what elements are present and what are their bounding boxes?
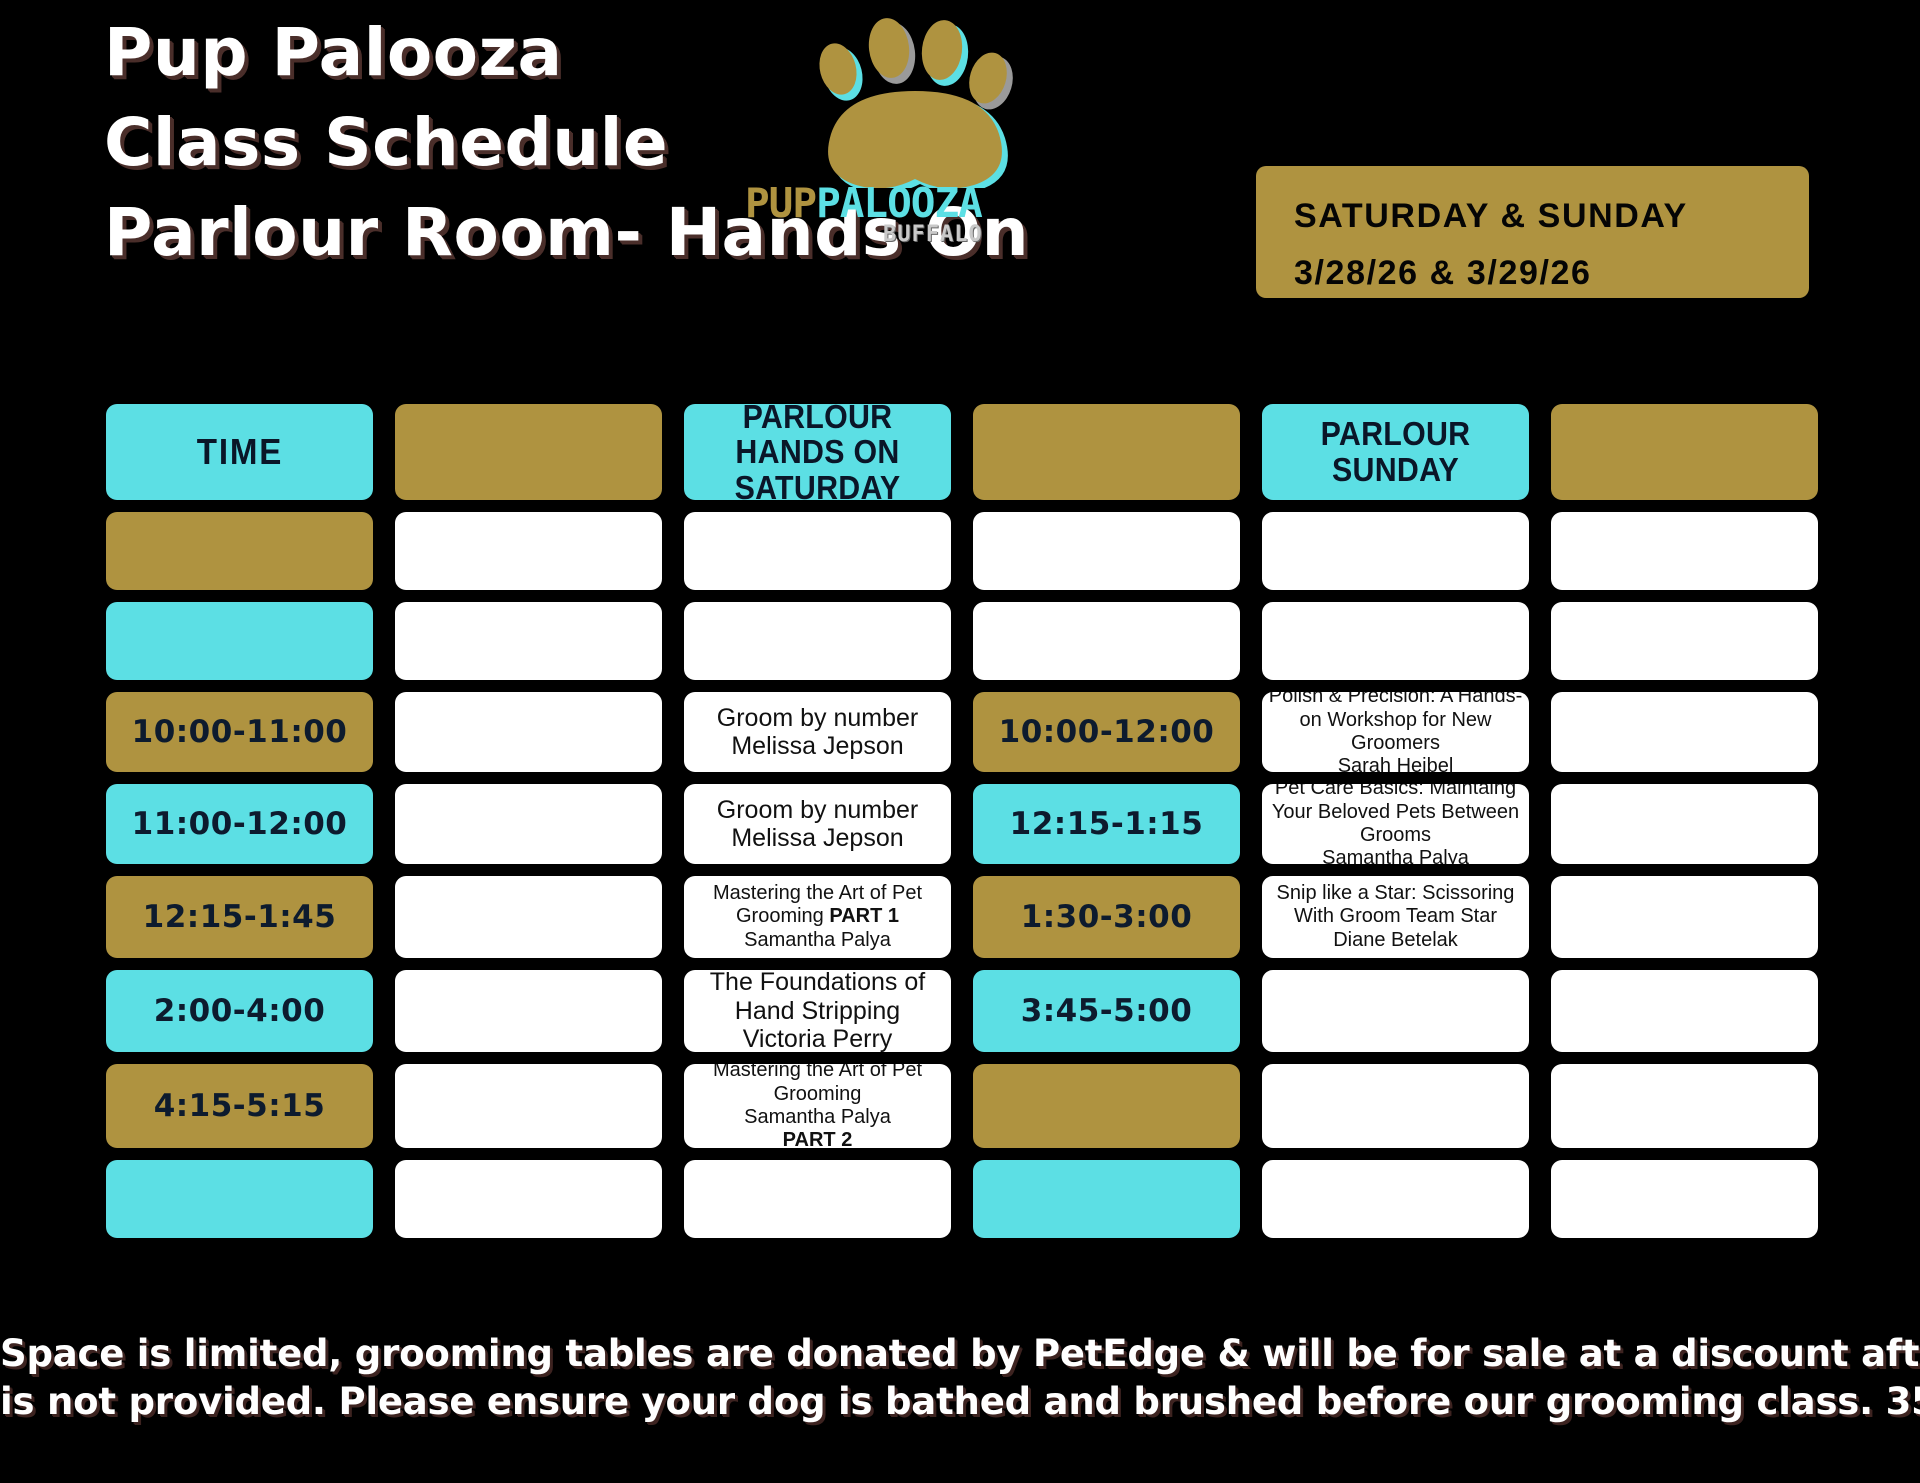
table-row — [684, 1160, 951, 1238]
poster-header: Pup Palooza Class Schedule Parlour Room-… — [0, 0, 1920, 390]
sunday-time-label: 3:45-5:00 — [1021, 993, 1193, 1029]
table-row — [106, 602, 373, 680]
saturday-time-slot: 10:00-11:00 — [106, 692, 373, 772]
session-title: Mastering the Art of Pet Grooming — [690, 1064, 945, 1106]
column-header-blank-2 — [395, 404, 662, 500]
footer-line-1: Space is limited, grooming tables are do… — [0, 1330, 1920, 1378]
session-presenter: Samantha Palya — [690, 1106, 945, 1129]
table-row — [684, 602, 951, 680]
table-row — [106, 512, 373, 590]
session-presenter: Melissa Jepson — [690, 824, 945, 853]
poster-root: Pup Palooza Class Schedule Parlour Room-… — [0, 0, 1920, 1483]
sunday-time-label: 1:30-3:00 — [1021, 899, 1193, 935]
session-presenter: Sarah Heibel — [1268, 755, 1523, 772]
footer-line-2: is not provided. Please ensure your dog … — [0, 1378, 1920, 1426]
table-cell-blank — [1262, 1064, 1529, 1148]
sunday-time-slot: 10:00-12:00 — [973, 692, 1240, 772]
session-presenter: Melissa Jepson — [690, 732, 945, 761]
sunday-session-cell: Pet Care Basics: Maintaing Your Beloved … — [1262, 784, 1529, 864]
table-row — [1262, 1160, 1529, 1238]
table-row — [106, 1160, 373, 1238]
sunday-session-content: Pet Care Basics: Maintaing Your Beloved … — [1268, 784, 1523, 864]
table-cell-blank — [1551, 692, 1818, 772]
session-title: Polish & Precision: A Hands-on Workshop … — [1268, 692, 1523, 755]
session-title: Snip like a Star: Scissoring With Groom … — [1268, 882, 1523, 929]
session-presenter: Victoria Perry — [690, 1025, 945, 1052]
saturday-session-cell: Groom by number Melissa Jepson — [684, 692, 951, 772]
table-cell-blank — [1551, 876, 1818, 958]
table-cell-blank — [1262, 970, 1529, 1052]
session-part: PART 1 — [829, 905, 899, 927]
schedule-table: TIME PARLOUR HANDS ON SATURDAY PARLOUR S… — [106, 404, 1820, 1238]
table-row — [1551, 1160, 1818, 1238]
table-cell-blank — [1551, 784, 1818, 864]
sunday-session-content: Polish & Precision: A Hands-on Workshop … — [1268, 692, 1523, 772]
column-header-parlour-sunday: PARLOUR SUNDAY — [1262, 404, 1529, 500]
table-row — [395, 602, 662, 680]
logo-word-palooza: PALOOZA — [816, 179, 982, 227]
table-row — [684, 512, 951, 590]
logo-wordmark: PUPPALOOZA — [745, 183, 982, 224]
table-row — [395, 1160, 662, 1238]
session-title: Pet Care Basics: Maintaing Your Beloved … — [1268, 784, 1523, 847]
sunday-time-slot: 1:30-3:00 — [973, 876, 1240, 958]
sunday-time-slot: 12:15-1:15 — [973, 784, 1240, 864]
saturday-time-slot: 11:00-12:00 — [106, 784, 373, 864]
session-title: Groom by number — [690, 796, 945, 825]
table-cell-blank — [1551, 1064, 1818, 1148]
saturday-time-label: 12:15-1:45 — [143, 899, 337, 935]
session-part: PART 2 — [783, 1129, 853, 1148]
table-cell-blank — [395, 1064, 662, 1148]
saturday-session-content: Mastering the Art of Pet Grooming Samant… — [690, 1064, 945, 1148]
saturday-session-content: Groom by number Melissa Jepson — [690, 796, 945, 853]
table-row — [973, 602, 1240, 680]
saturday-session-content: The Foundations of Hand Stripping Victor… — [690, 970, 945, 1052]
logo-word-buffalo: BUFFALO — [883, 222, 983, 247]
session-title-with-part: Mastering the Art of Pet Grooming PART 1 — [690, 882, 945, 929]
saturday-time-slot: 12:15-1:45 — [106, 876, 373, 958]
sunday-session-cell: Polish & Precision: A Hands-on Workshop … — [1262, 692, 1529, 772]
saturday-time-slot: 2:00-4:00 — [106, 970, 373, 1052]
sunday-session-content: Snip like a Star: Scissoring With Groom … — [1268, 882, 1523, 952]
table-row — [1262, 512, 1529, 590]
saturday-session-cell: Mastering the Art of Pet Grooming PART 1… — [684, 876, 951, 958]
table-cell-blank — [395, 692, 662, 772]
session-presenter: Samantha Palya — [1268, 847, 1523, 864]
table-row — [1551, 602, 1818, 680]
saturday-time-label: 11:00-12:00 — [132, 806, 348, 842]
table-cell-blank — [395, 970, 662, 1052]
poster-footer: Space is limited, grooming tables are do… — [0, 1330, 1920, 1426]
date-badge-dates: 3/28/26 & 3/29/26 — [1294, 245, 1809, 302]
table-cell-blank — [395, 784, 662, 864]
column-header-blank-4 — [973, 404, 1240, 500]
saturday-session-content: Mastering the Art of Pet Grooming PART 1… — [690, 882, 945, 952]
brand-logo: PUPPALOOZA BUFFALO — [735, 8, 1035, 258]
sunday-time-label: 12:15-1:15 — [1010, 806, 1204, 842]
saturday-time-label: 10:00-11:00 — [132, 714, 348, 750]
column-header-parlour-saturday-label: PARLOUR HANDS ON SATURDAY — [700, 404, 935, 500]
column-header-time-label: TIME — [196, 433, 282, 472]
sunday-session-cell: Snip like a Star: Scissoring With Groom … — [1262, 876, 1529, 958]
session-presenter: Samantha Palya — [690, 929, 945, 952]
column-header-time: TIME — [106, 404, 373, 500]
logo-word-pup: PUP — [745, 179, 816, 227]
saturday-session-content: Groom by number Melissa Jepson — [690, 704, 945, 761]
saturday-time-slot: 4:15-5:15 — [106, 1064, 373, 1148]
saturday-time-label: 2:00-4:00 — [154, 993, 326, 1029]
saturday-time-label: 4:15-5:15 — [154, 1088, 326, 1124]
session-presenter: Diane Betelak — [1268, 929, 1523, 952]
table-row — [973, 512, 1240, 590]
table-row — [973, 1160, 1240, 1238]
table-cell-blank — [1551, 970, 1818, 1052]
column-header-parlour-sunday-label: PARLOUR SUNDAY — [1278, 416, 1513, 487]
table-row — [1551, 512, 1818, 590]
session-title: Groom by number — [690, 704, 945, 733]
sunday-time-label: 10:00-12:00 — [999, 714, 1215, 750]
table-cell-blank — [973, 1064, 1240, 1148]
table-row — [1262, 602, 1529, 680]
table-cell-blank — [395, 876, 662, 958]
column-header-blank-6 — [1551, 404, 1818, 500]
session-title: The Foundations of Hand Stripping — [690, 970, 945, 1025]
saturday-session-cell: The Foundations of Hand Stripping Victor… — [684, 970, 951, 1052]
saturday-session-cell: Groom by number Melissa Jepson — [684, 784, 951, 864]
sunday-time-slot: 3:45-5:00 — [973, 970, 1240, 1052]
date-badge-days: SATURDAY & SUNDAY — [1294, 188, 1809, 245]
date-badge: SATURDAY & SUNDAY 3/28/26 & 3/29/26 — [1256, 166, 1809, 298]
saturday-session-cell: Mastering the Art of Pet Grooming Samant… — [684, 1064, 951, 1148]
table-row — [395, 512, 662, 590]
column-header-parlour-saturday: PARLOUR HANDS ON SATURDAY — [684, 404, 951, 500]
paw-print-icon — [735, 8, 1035, 188]
